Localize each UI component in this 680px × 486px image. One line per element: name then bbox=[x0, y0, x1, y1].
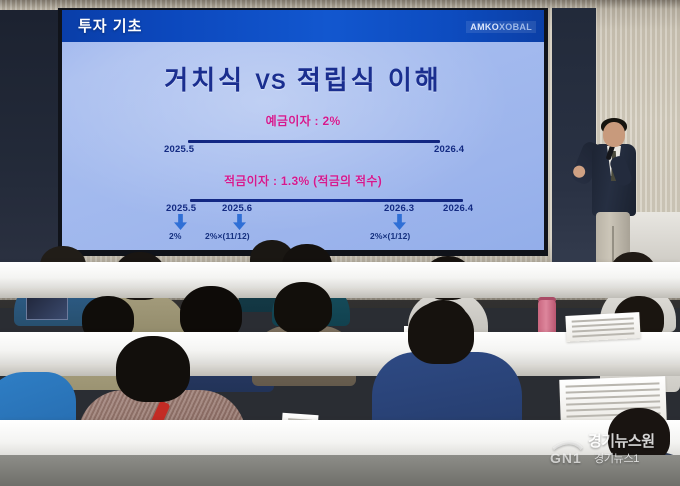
news-watermark: ⌒ GN1 경기뉴스원 경기뉴스1 bbox=[548, 428, 680, 474]
deposit-rate-label: 예금이자 : 2% bbox=[62, 112, 544, 129]
desk-row-far bbox=[0, 262, 680, 290]
deposit-end-date: 2026.4 bbox=[434, 144, 464, 155]
slide-title-left: 거치식 bbox=[164, 65, 245, 95]
installment-timeline-bar bbox=[190, 199, 463, 202]
installment-date-1: 2025.5 bbox=[166, 203, 196, 214]
presenter bbox=[575, 108, 649, 268]
deposit-timeline-bar bbox=[188, 140, 440, 143]
audience-head bbox=[116, 336, 190, 402]
audience-head bbox=[408, 302, 474, 364]
down-arrow-icon-3 bbox=[393, 214, 406, 230]
desk-row-mid-front bbox=[0, 364, 680, 376]
company-logo: AMKOXOBAL bbox=[466, 21, 536, 33]
slide-title-right: 적립식 이해 bbox=[297, 65, 442, 95]
installment-date-3: 2026.3 bbox=[384, 203, 414, 214]
logo-secondary-text: XOBAL bbox=[499, 22, 532, 32]
deposit-start-date: 2025.5 bbox=[164, 144, 194, 155]
installment-date-2: 2025.6 bbox=[222, 203, 252, 214]
slide-header-title: 투자 기초 bbox=[78, 15, 142, 36]
presenter-head bbox=[603, 122, 625, 147]
slide-main-title: 거치식 VS 적립식 이해 bbox=[62, 60, 544, 97]
down-arrow-icon-1 bbox=[174, 214, 187, 230]
audience-head bbox=[274, 282, 332, 334]
installment-date-4: 2026.4 bbox=[443, 203, 473, 214]
down-arrow-icon-2 bbox=[233, 214, 246, 230]
presenter-hand bbox=[571, 164, 587, 180]
presentation-slide: 투자 기초 AMKOXOBAL 거치식 VS 적립식 이해 예금이자 : 2% … bbox=[62, 10, 544, 250]
watermark-brand: 경기뉴스원 bbox=[588, 430, 655, 451]
dark-panel-left bbox=[0, 10, 62, 272]
lecture-hall-photo: 투자 기초 AMKOXOBAL 거치식 VS 적립식 이해 예금이자 : 2% … bbox=[0, 0, 680, 486]
projector-glow bbox=[62, 10, 544, 250]
watermark-abbr: GN1 bbox=[550, 450, 582, 466]
installment-value-1: 2% bbox=[169, 231, 182, 241]
open-booklet bbox=[565, 312, 640, 342]
logo-primary-text: AMKO bbox=[470, 22, 499, 32]
watermark-subtitle: 경기뉴스1 bbox=[594, 450, 639, 466]
installment-value-2: 2%×(11/12) bbox=[205, 231, 250, 241]
installment-rate-label: 적금이자 : 1.3% (적금의 적수) bbox=[62, 172, 544, 189]
installment-value-3: 2%×(1/12) bbox=[370, 231, 410, 241]
slide-title-vs: VS bbox=[255, 69, 286, 94]
